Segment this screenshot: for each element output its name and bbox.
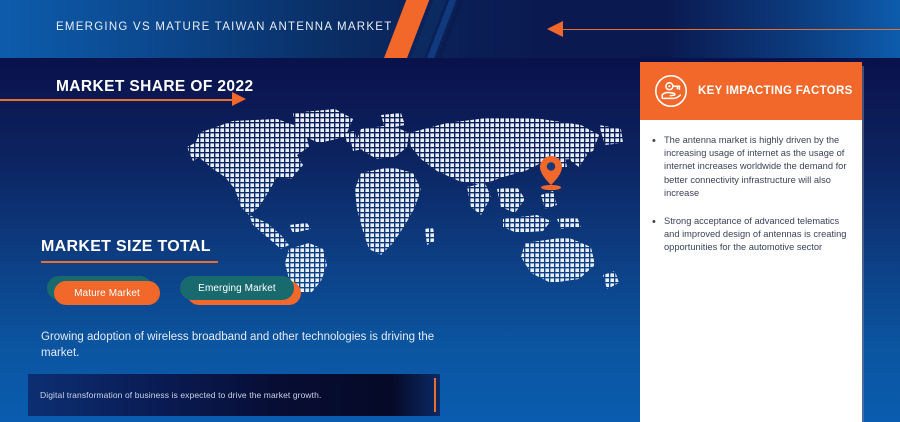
mature-market-button[interactable]: Mature Market bbox=[54, 281, 160, 305]
key-factors-panel: KEY IMPACTING FACTORS • The antenna mark… bbox=[640, 62, 862, 422]
mature-market-button-label: Mature Market bbox=[74, 288, 140, 299]
map-marker-taiwan[interactable] bbox=[538, 155, 564, 191]
page-title: EMERGING VS MATURE TAIWAN ANTENNA MARKET bbox=[56, 21, 392, 33]
bullet-icon: • bbox=[652, 134, 664, 200]
key-factors-title: KEY IMPACTING FACTORS bbox=[698, 85, 853, 98]
market-size-total-underline bbox=[41, 261, 218, 263]
market-share-arrow-line bbox=[0, 99, 234, 101]
emerging-market-button[interactable]: Emerging Market bbox=[180, 276, 294, 300]
world-map bbox=[185, 103, 625, 293]
market-share-label: MARKET SHARE OF 2022 bbox=[56, 78, 253, 96]
top-arrow-left-icon bbox=[547, 21, 563, 37]
key-factors-list: • The antenna market is highly driven by… bbox=[640, 120, 862, 255]
emerging-market-button-label: Emerging Market bbox=[198, 283, 276, 294]
key-factor-item: • Strong acceptance of advanced telemati… bbox=[652, 215, 850, 255]
body-copy: Growing adoption of wireless broadband a… bbox=[41, 329, 441, 361]
key-factor-text: Strong acceptance of advanced telematics… bbox=[664, 215, 850, 255]
hand-holding-key-icon bbox=[654, 74, 688, 108]
key-factors-header: KEY IMPACTING FACTORS bbox=[640, 62, 862, 120]
bottom-callout-accent bbox=[434, 378, 436, 412]
bottom-callout-text: Digital transformation of business is ex… bbox=[40, 390, 321, 400]
top-arrow-line bbox=[560, 29, 900, 30]
key-factor-text: The antenna market is highly driven by t… bbox=[664, 134, 850, 200]
bottom-callout-bar: Digital transformation of business is ex… bbox=[28, 374, 440, 416]
bullet-icon: • bbox=[652, 215, 664, 255]
infographic-canvas: EMERGING VS MATURE TAIWAN ANTENNA MARKET… bbox=[0, 0, 900, 422]
market-size-total-title: MARKET SIZE TOTAL bbox=[41, 238, 211, 256]
key-factor-item: • The antenna market is highly driven by… bbox=[652, 134, 850, 200]
